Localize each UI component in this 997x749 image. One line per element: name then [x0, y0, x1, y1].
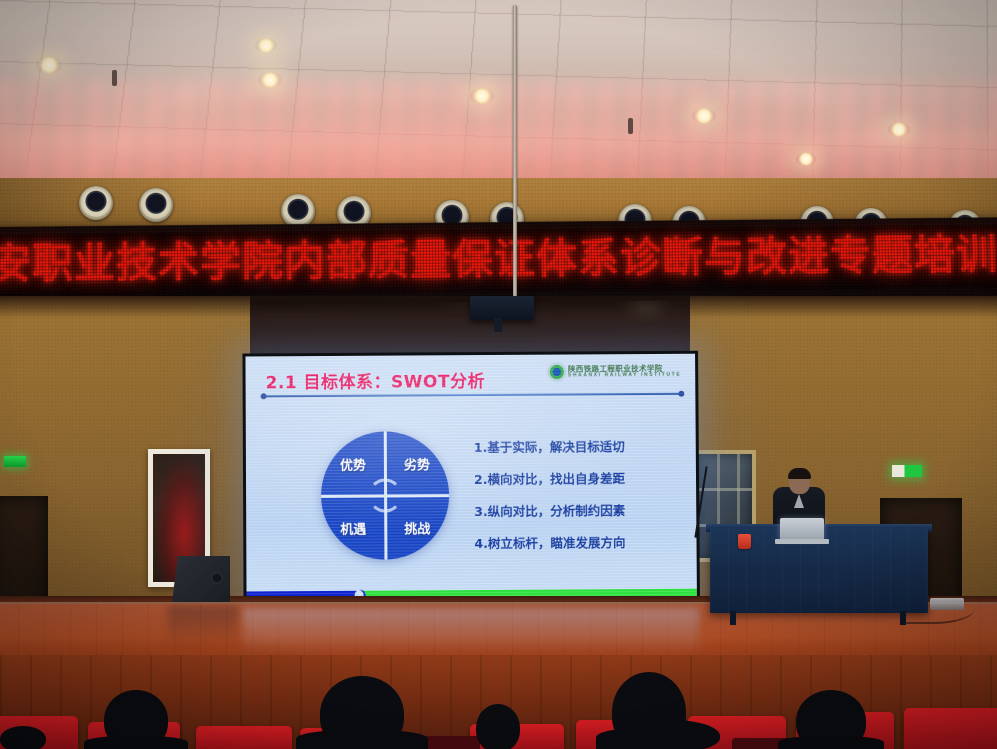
ceiling-mount [628, 118, 633, 134]
ceiling-projector [470, 296, 534, 320]
rule-dot-left [261, 393, 267, 399]
ceiling-mount [112, 70, 117, 86]
laptop-keyboard[interactable] [775, 539, 829, 544]
swot-diagram: 优势 劣势 机遇 挑战 [321, 431, 450, 560]
theater-seat [196, 726, 292, 749]
institution-logo: 陕西铁路工程职业技术学院 SHAANXI RAILWAY INSTITUTE [549, 364, 681, 380]
seat-shadow [420, 736, 480, 749]
audience-shoulders [296, 730, 428, 749]
exit-sign-left-icon [4, 456, 26, 467]
audience-shoulders [84, 736, 188, 749]
projection-screen: 2.1 目标体系：SWOT分析 陕西铁路工程职业技术学院 SHAANXI RAI… [242, 351, 700, 604]
logo-text: 陕西铁路工程职业技术学院 SHAANXI RAILWAY INSTITUTE [568, 365, 681, 379]
list-item: 4.树立标杆，瞄准发展方向 [474, 532, 680, 552]
logo-name-en: SHAANXI RAILWAY INSTITUTE [568, 373, 681, 379]
audience-head [476, 704, 520, 749]
speaker-reflection-on-floor [168, 606, 238, 646]
auditorium-scene: 雅安职业技术学院内部质量保证体系诊断与改进专题培训会 2.1 目标体系：SWOT… [0, 0, 997, 749]
red-cup [738, 534, 751, 549]
list-item: 1.基于实际，解决目标适切 [474, 436, 680, 456]
theater-seat [904, 708, 997, 749]
list-item: 2.横向对比，找出自身差距 [474, 468, 680, 488]
table-leg [730, 611, 736, 625]
exit-sign-right-icon [892, 465, 922, 477]
circular-emblem-icon [549, 365, 564, 380]
ceiling-downlight [888, 122, 910, 137]
led-banner-text: 雅安职业技术学院内部质量保证体系诊断与改进专题培训会 [0, 223, 997, 287]
round-ceiling-fixture [281, 194, 315, 228]
projector-lens-housing [494, 318, 502, 332]
list-item: 3.纵向对比，分析制约因素 [474, 500, 680, 520]
ceiling-downlight [255, 38, 277, 53]
presenter-hair [788, 468, 811, 479]
stage-monitor-speaker [172, 556, 230, 602]
floor-equipment [930, 598, 964, 610]
audience-head [624, 720, 720, 749]
slide-title: 2.1 目标体系：SWOT分析 [265, 367, 485, 393]
audience-head [0, 726, 46, 749]
ceiling-downlight [470, 88, 494, 104]
ceiling-downlight [36, 56, 62, 74]
laptop-screen[interactable] [780, 518, 824, 540]
ceiling-downlight [692, 108, 716, 124]
presentation-slide: 2.1 目标体系：SWOT分析 陕西铁路工程职业技术学院 SHAANXI RAI… [245, 354, 696, 601]
speaker-cone-icon [211, 572, 223, 584]
ceiling-downlight [258, 72, 282, 88]
rule-dot-right [678, 391, 684, 397]
title-underline [264, 393, 682, 398]
slide-bullet-list: 1.基于实际，解决目标适切 2.横向对比，找出自身差距 3.纵向对比，分析制约因… [474, 436, 681, 565]
projector-support-pole [513, 6, 517, 306]
ceiling-downlight [796, 152, 816, 166]
audience-shoulders [778, 736, 884, 749]
round-ceiling-fixture [139, 188, 173, 222]
round-ceiling-fixture [79, 186, 113, 220]
circular-arrow-icon [368, 478, 402, 512]
led-banner: 雅安职业技术学院内部质量保证体系诊断与改进专题培训会 [0, 217, 997, 307]
door-rail [698, 488, 752, 491]
